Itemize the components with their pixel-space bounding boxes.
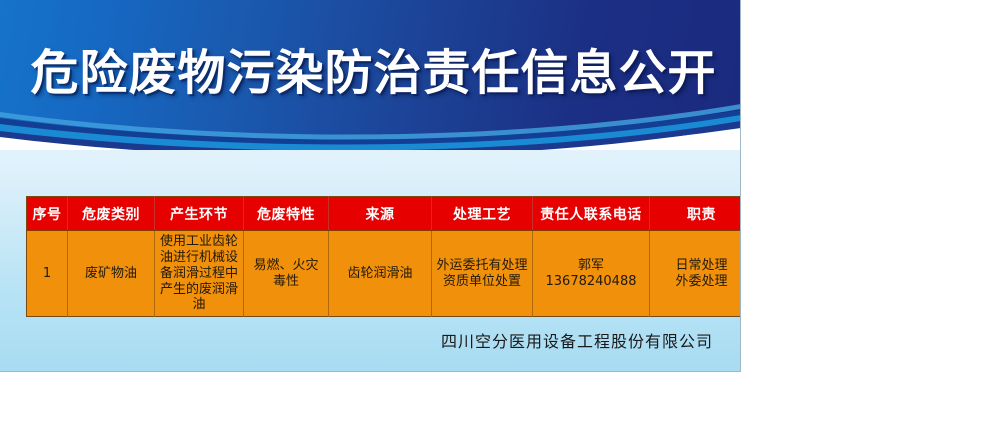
column-header-source: 来源 xyxy=(329,197,432,231)
table-header: 序号 危废类别 产生环节 危废特性 来源 处理工艺 责任人联系电话 职责 xyxy=(27,197,742,231)
table-header-row: 序号 危废类别 产生环节 危废特性 来源 处理工艺 责任人联系电话 职责 xyxy=(27,197,742,231)
column-header-treatment: 处理工艺 xyxy=(432,197,533,231)
information-disclosure-poster: 危险废物污染防治责任信息公开 序号 危废类别 产生环节 危废特性 来源 处理工艺… xyxy=(0,0,741,372)
column-header-index: 序号 xyxy=(27,197,68,231)
cell-generation-stage: 使用工业齿轮油进行机械设备润滑过程中产生的废润滑油 xyxy=(155,231,244,317)
table-row: 1 废矿物油 使用工业齿轮油进行机械设备润滑过程中产生的废润滑油 易燃、火灾毒性… xyxy=(27,231,742,317)
poster-title: 危险废物污染防治责任信息公开 xyxy=(0,0,741,136)
poster-title-text: 危险废物污染防治责任信息公开 xyxy=(24,33,716,103)
hazardous-waste-table-container: 序号 危废类别 产生环节 危废特性 来源 处理工艺 责任人联系电话 职责 1 废… xyxy=(26,196,713,317)
cell-index: 1 xyxy=(27,231,68,317)
poster-banner: 危险废物污染防治责任信息公开 xyxy=(0,0,741,150)
responsible-person-name: 郭军 xyxy=(537,258,645,274)
responsible-person-phone: 13678240488 xyxy=(537,274,645,290)
cell-characteristics: 易燃、火灾毒性 xyxy=(244,231,329,317)
cell-responsible-contact: 郭军 13678240488 xyxy=(533,231,650,317)
table-body: 1 废矿物油 使用工业齿轮油进行机械设备润滑过程中产生的废润滑油 易燃、火灾毒性… xyxy=(27,231,742,317)
column-header-category: 危废类别 xyxy=(68,197,155,231)
hazardous-waste-table: 序号 危废类别 产生环节 危废特性 来源 处理工艺 责任人联系电话 职责 1 废… xyxy=(26,196,741,317)
column-header-characteristics: 危废特性 xyxy=(244,197,329,231)
column-header-duty: 职责 xyxy=(650,197,742,231)
screenshot-canvas: 危险废物污染防治责任信息公开 序号 危废类别 产生环节 危废特性 来源 处理工艺… xyxy=(0,0,1000,442)
column-header-contact: 责任人联系电话 xyxy=(533,197,650,231)
cell-category: 废矿物油 xyxy=(68,231,155,317)
cell-duty: 日常处理 外委处理 xyxy=(650,231,742,317)
column-header-stage: 产生环节 xyxy=(155,197,244,231)
cell-source: 齿轮润滑油 xyxy=(329,231,432,317)
cell-treatment-process: 外运委托有处理资质单位处置 xyxy=(432,231,533,317)
company-name: 四川空分医用设备工程股份有限公司 xyxy=(0,328,713,352)
